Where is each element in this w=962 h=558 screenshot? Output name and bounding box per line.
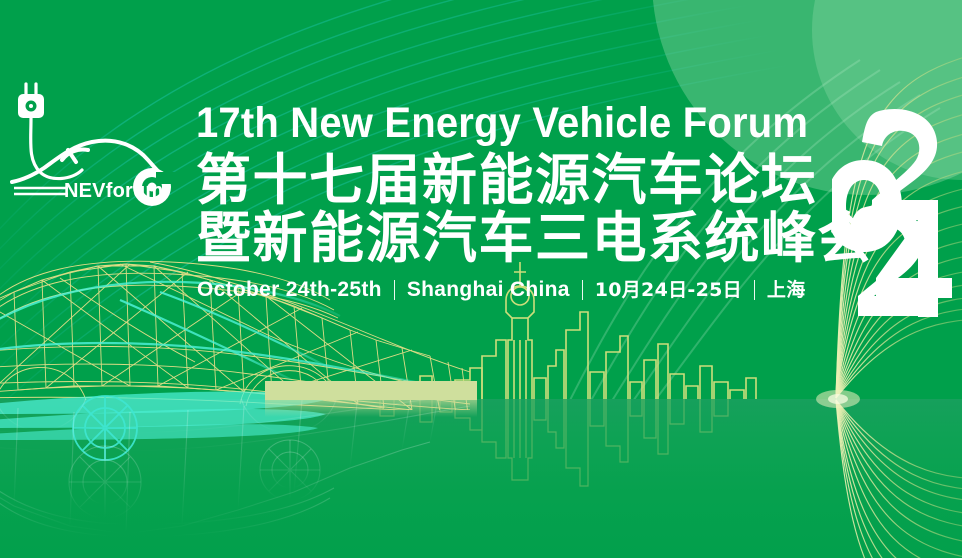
lime-accent-bar-reflection — [265, 400, 477, 417]
event-dateline: October 24th-25th Shanghai China 10月24日-… — [196, 277, 844, 303]
date-english: October 24th-25th — [196, 277, 383, 303]
logo-wordmark: NEVforum — [64, 180, 163, 203]
event-poster: NEVforum 17th New Energy Vehicle Forum 第… — [0, 0, 962, 558]
dateline-separator-1 — [394, 280, 395, 300]
page-title-chinese-line-1: 第十七届新能源汽车论坛 — [196, 149, 844, 211]
page-title-english: 17th New Energy Vehicle Forum — [196, 100, 799, 147]
headline-block: 17th New Energy Vehicle Forum 第十七届新能源汽车论… — [196, 100, 844, 303]
ground-reflection-band — [0, 399, 962, 558]
lime-accent-bar — [265, 381, 477, 400]
city-english: Shanghai China — [406, 277, 571, 303]
dateline-separator-2 — [582, 280, 583, 300]
nevforum-logo[interactable]: NEVforum — [6, 76, 186, 211]
dateline-separator-3 — [754, 280, 755, 300]
page-title-chinese-line-2: 暨新能源汽车三电系统峰会 — [196, 207, 844, 269]
date-chinese: 10月24日-25日 — [594, 277, 743, 303]
logo-underline — [14, 188, 68, 194]
charging-plug-icon — [26, 84, 36, 94]
city-chinese: 上海 — [766, 277, 807, 303]
